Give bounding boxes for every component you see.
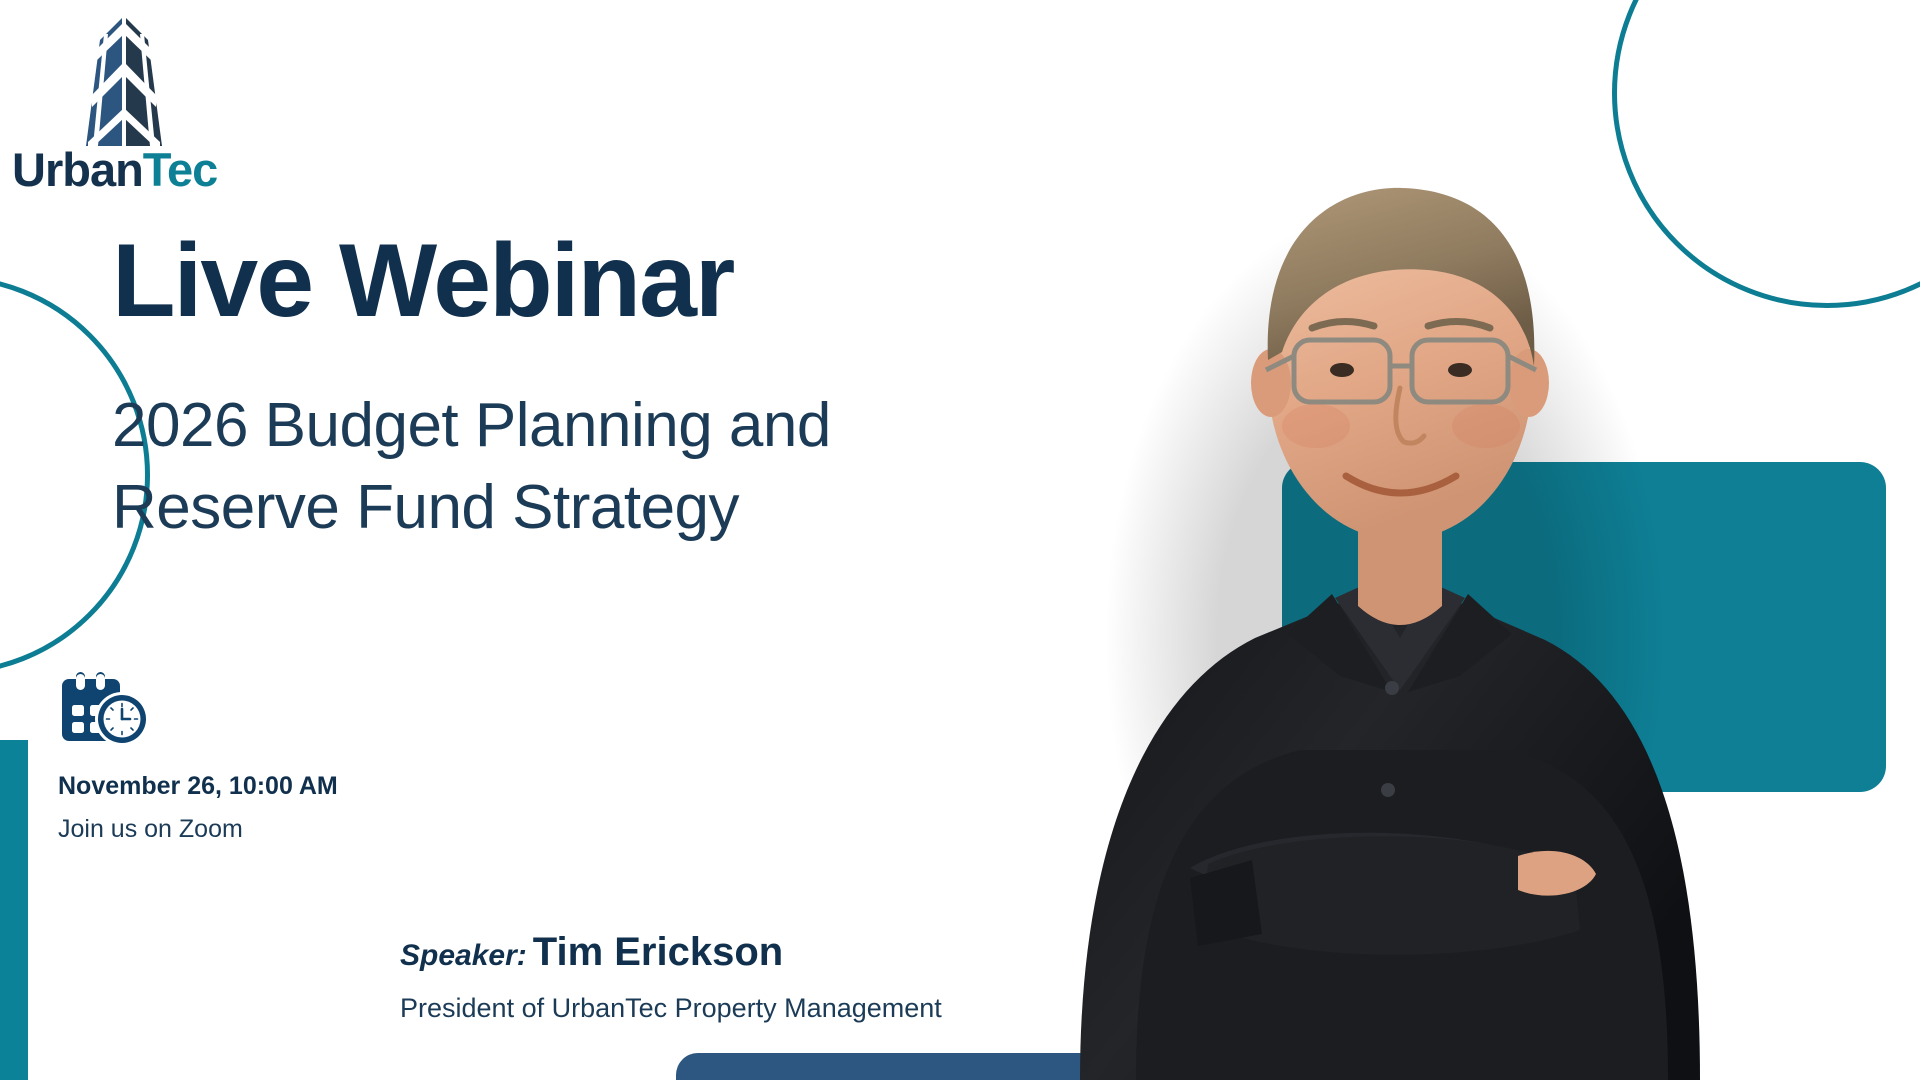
page-subtitle: 2026 Budget Planning and Reserve Fund St… (112, 385, 1032, 549)
speaker-label: Speaker: (400, 939, 527, 972)
brand-logo: UrbanTec (12, 14, 232, 194)
event-datetime: November 26, 10:00 AM (58, 772, 398, 801)
speaker-name: Tim Erickson (533, 930, 783, 974)
page-subtitle-line-1: 2026 Budget Planning and (112, 385, 1032, 467)
brand-wordmark-accent: Tec (143, 143, 218, 196)
speaker-headshot (1040, 78, 1730, 1080)
urbantec-building-logo-icon (64, 14, 184, 146)
decorative-teal-side-bar (0, 740, 28, 1080)
speaker-details: Speaker:Tim Erickson President of UrbanT… (400, 930, 960, 1024)
speaker-title: President of UrbanTec Property Managemen… (400, 993, 960, 1024)
brand-wordmark: UrbanTec (12, 146, 232, 193)
event-details: November 26, 10:00 AM Join us on Zoom (58, 672, 398, 844)
brand-wordmark-primary: Urban (12, 143, 143, 196)
webinar-promo-canvas: UrbanTec Live Webinar 2026 Budget Planni… (0, 0, 1920, 1080)
event-platform: Join us on Zoom (58, 815, 398, 844)
page-subtitle-line-2: Reserve Fund Strategy (112, 467, 1032, 549)
calendar-clock-icon (58, 672, 150, 750)
page-title: Live Webinar (112, 225, 733, 337)
speaker-name-line: Speaker:Tim Erickson (400, 930, 960, 975)
